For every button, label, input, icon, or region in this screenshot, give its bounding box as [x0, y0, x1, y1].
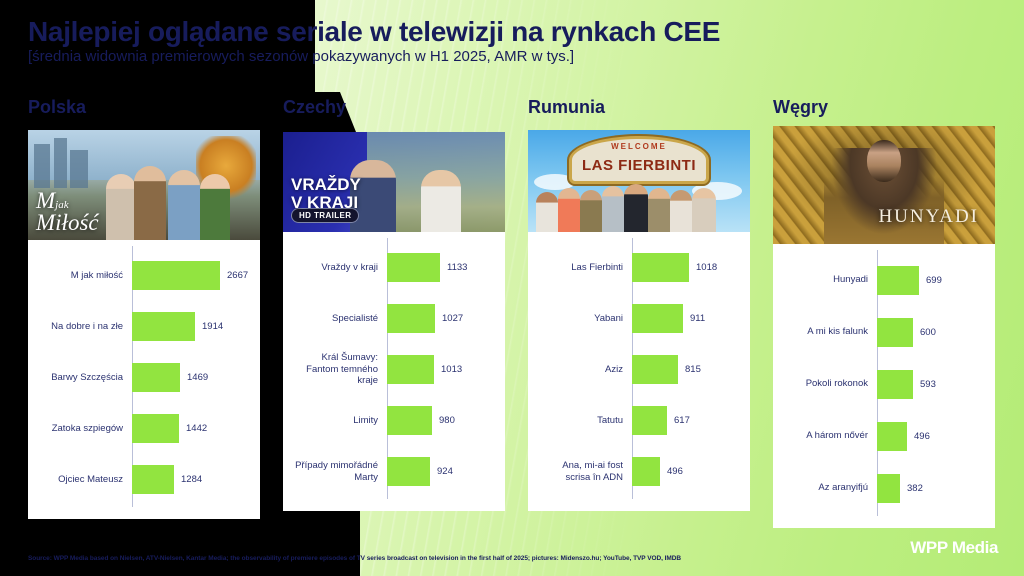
chart-row: Na dobre i na złe 1914 — [36, 301, 252, 352]
chart-row: Tatutu 617 — [536, 395, 742, 446]
chart-row: Případy mimořádné Marty 924 — [291, 446, 497, 497]
las-fierbinti-poster: WELCOME LAS FIERBINTI — [528, 130, 750, 232]
bar-category-label: Ana, mi-ai fost scrisa în ADN — [536, 460, 632, 483]
vrazdy-v-kraji-poster: VRAŽDY V KRAJI HD TRAILER — [283, 132, 505, 232]
bar-category-label: M jak miłość — [36, 270, 132, 281]
sign-welcome-text: WELCOME — [572, 142, 706, 151]
bar-category-label: Ojciec Mateusz — [36, 474, 132, 485]
bar-zone: 815 — [632, 344, 742, 395]
bar-zone: 600 — [877, 306, 987, 358]
bar-category-label: A mi kis falunk — [781, 326, 877, 337]
bar-chart-rumunia: Las Fierbinti 1018 Yabani 911 Aziz — [528, 232, 750, 503]
poster-person — [106, 174, 136, 240]
chart-row: Hunyadi 699 — [781, 254, 987, 306]
chart-row: M jak miłość 2667 — [36, 250, 252, 301]
bar-value-label: 617 — [667, 415, 690, 426]
bar — [632, 457, 660, 486]
bar-zone: 980 — [387, 395, 497, 446]
bar-category-label: Specialisté — [291, 313, 387, 324]
slide-canvas: Najlepiej oglądane seriale w telewizji n… — [0, 0, 1024, 576]
bar-category-label: Az aranyifjú — [781, 482, 877, 493]
bar-value-label: 1027 — [435, 313, 463, 324]
bar-zone: 1469 — [132, 352, 252, 403]
bar-zone: 1442 — [132, 403, 252, 454]
bar-category-label: Barwy Szczęścia — [36, 372, 132, 383]
m-jak-milosc-poster: Mjak Miłość — [28, 130, 260, 240]
bar — [632, 304, 683, 333]
bar-value-label: 1284 — [174, 474, 202, 485]
poster-title-line2: V KRAJI — [291, 193, 358, 212]
bar-category-label: Vraždy v kraji — [291, 262, 387, 273]
bar — [387, 355, 434, 384]
poster-building — [54, 138, 67, 188]
country-column-czechy: Czechy VRAŽDY V KRAJI HD TRAILER Vraždy … — [283, 96, 515, 511]
country-card-czechy: VRAŽDY V KRAJI HD TRAILER Vraždy v kraji… — [283, 132, 505, 511]
source-footnote: Source: WPP Media based on Nielsen, ATV-… — [28, 555, 681, 562]
poster-title-line1: VRAŽDY — [291, 175, 361, 194]
poster-person — [421, 170, 461, 232]
bar-zone: 1133 — [387, 242, 497, 293]
poster-person — [536, 192, 558, 232]
country-label-polska: Polska — [28, 96, 260, 118]
poster-title-sub: Miłość — [36, 210, 99, 235]
chart-row: Zatoka szpiegów 1442 — [36, 403, 252, 454]
chart-row: Ana, mi-ai fost scrisa în ADN 496 — [536, 446, 742, 497]
bar-zone: 617 — [632, 395, 742, 446]
country-column-rumunia: Rumunia WELCOME LAS FIERBINTI — [528, 96, 760, 511]
bar-value-label: 496 — [907, 431, 930, 442]
bar-value-label: 1442 — [179, 423, 207, 434]
chart-row: Aziz 815 — [536, 344, 742, 395]
bar-zone: 496 — [632, 446, 742, 497]
country-card-wegry: HUNYADI Hunyadi 699 A mi kis falunk 600 — [773, 126, 995, 528]
bar-value-label: 2667 — [220, 270, 248, 281]
poster-person — [648, 188, 670, 232]
country-label-czechy: Czechy — [283, 96, 515, 118]
bar-zone: 382 — [877, 462, 987, 514]
bar-chart-polska: M jak miłość 2667 Na dobre i na złe 1914… — [28, 240, 260, 511]
bar-chart-czechy: Vraždy v kraji 1133 Specialisté 1027 Krá… — [283, 232, 505, 503]
bar-zone: 496 — [877, 410, 987, 462]
poster-person — [692, 188, 716, 232]
chart-row: Yabani 911 — [536, 293, 742, 344]
bar — [877, 474, 900, 503]
bar — [632, 406, 667, 435]
bar-zone: 1027 — [387, 293, 497, 344]
bar-category-label: Yabani — [536, 313, 632, 324]
poster-person — [602, 186, 624, 232]
bar-zone: 924 — [387, 446, 497, 497]
bar-category-label: Král Šumavy: Fantom temného kraje — [291, 352, 387, 386]
bar-value-label: 600 — [913, 327, 936, 338]
bar — [877, 422, 907, 451]
chart-row: Vraždy v kraji 1133 — [291, 242, 497, 293]
chart-row: Limity 980 — [291, 395, 497, 446]
poster-building — [70, 150, 88, 188]
bar-category-label: Las Fierbinti — [536, 262, 632, 273]
chart-row: Barwy Szczęścia 1469 — [36, 352, 252, 403]
bar — [132, 363, 180, 392]
bar — [387, 253, 440, 282]
sign-title-text: LAS FIERBINTI — [572, 157, 706, 174]
bar — [132, 414, 179, 443]
bar-category-label: A három nővér — [781, 430, 877, 441]
poster-person — [558, 188, 580, 232]
country-column-polska: Polska Mjak Miłość M jak mi — [28, 96, 260, 519]
page-title: Najlepiej oglądane seriale w telewizji n… — [28, 16, 720, 48]
bar — [387, 304, 435, 333]
bar-category-label: Aziz — [536, 364, 632, 375]
bar-zone: 911 — [632, 293, 742, 344]
bar-value-label: 382 — [900, 483, 923, 494]
chart-row: Az aranyifjú 382 — [781, 462, 987, 514]
bar-value-label: 1013 — [434, 364, 462, 375]
bar-value-label: 1469 — [180, 372, 208, 383]
bar-category-label: Případy mimořádné Marty — [291, 460, 387, 483]
bar — [632, 253, 689, 282]
bar-category-label: Tatutu — [536, 415, 632, 426]
bar-category-label: Pokoli rokonok — [781, 378, 877, 389]
bar-value-label: 496 — [660, 466, 683, 477]
country-card-rumunia: WELCOME LAS FIERBINTI Las Fierbinti — [528, 130, 750, 511]
bar-zone: 1284 — [132, 454, 252, 505]
bar-value-label: 1133 — [440, 262, 467, 273]
bar-zone: 593 — [877, 358, 987, 410]
bar — [877, 318, 913, 347]
poster-title-text: VRAŽDY V KRAJI — [291, 176, 361, 211]
bar — [387, 406, 432, 435]
bar-zone: 1018 — [632, 242, 742, 293]
poster-person — [134, 166, 166, 240]
bar-category-label: Limity — [291, 415, 387, 426]
wpp-media-logo: WPP Media — [910, 538, 998, 558]
poster-title-text: HUNYADI — [878, 206, 979, 228]
page-subtitle: [średnia widownia premierowych sezonów p… — [28, 48, 574, 65]
bar-value-label: 980 — [432, 415, 455, 426]
bar — [877, 266, 919, 295]
chart-row: Král Šumavy: Fantom temného kraje 1013 — [291, 344, 497, 395]
bar — [132, 261, 220, 290]
country-card-polska: Mjak Miłość M jak miłość 2667 Na dobre i… — [28, 130, 260, 519]
country-label-rumunia: Rumunia — [528, 96, 760, 118]
poster-person — [168, 170, 200, 240]
poster-title-text: Mjak Miłość — [36, 190, 99, 234]
bar-zone: 1013 — [387, 344, 497, 395]
bar — [632, 355, 678, 384]
bar-category-label: Na dobre i na złe — [36, 321, 132, 332]
bar-value-label: 815 — [678, 364, 701, 375]
bar-category-label: Hunyadi — [781, 274, 877, 285]
poster-building — [34, 144, 50, 188]
bar-value-label: 911 — [683, 313, 705, 324]
poster-knight-head — [867, 140, 901, 182]
poster-person — [670, 190, 692, 232]
poster-person — [200, 174, 230, 240]
country-label-wegry: Węgry — [773, 96, 1005, 118]
welcome-sign: WELCOME LAS FIERBINTI — [569, 136, 709, 184]
bar-zone: 699 — [877, 254, 987, 306]
bar-value-label: 1018 — [689, 262, 717, 273]
poster-person — [580, 190, 602, 232]
bar-value-label: 593 — [913, 379, 936, 390]
bar-zone: 2667 — [132, 250, 252, 301]
bar — [877, 370, 913, 399]
bar — [132, 465, 174, 494]
poster-person — [624, 184, 648, 232]
chart-row: Specialisté 1027 — [291, 293, 497, 344]
chart-row: Las Fierbinti 1018 — [536, 242, 742, 293]
bar-zone: 1914 — [132, 301, 252, 352]
bar-category-label: Zatoka szpiegów — [36, 423, 132, 434]
chart-row: Pokoli rokonok 593 — [781, 358, 987, 410]
chart-row: A mi kis falunk 600 — [781, 306, 987, 358]
bar-value-label: 1914 — [195, 321, 223, 332]
chart-row: A három nővér 496 — [781, 410, 987, 462]
country-column-wegry: Węgry HUNYADI Hunyadi 699 A mi kis falun… — [773, 96, 1005, 528]
bar — [132, 312, 195, 341]
bar — [387, 457, 430, 486]
bar-chart-wegry: Hunyadi 699 A mi kis falunk 600 Pokoli r… — [773, 244, 995, 520]
bar-value-label: 924 — [430, 466, 453, 477]
bar-value-label: 699 — [919, 275, 942, 286]
hunyadi-poster: HUNYADI — [773, 126, 995, 244]
chart-row: Ojciec Mateusz 1284 — [36, 454, 252, 505]
